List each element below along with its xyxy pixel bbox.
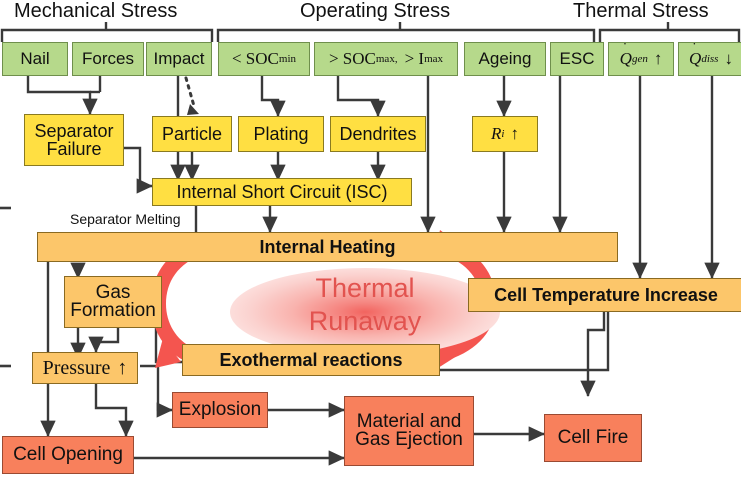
node-soc-max-i-max[interactable]: > SOCmax, > Imax [314, 42, 458, 76]
node-esc[interactable]: ESC [550, 42, 604, 76]
node-separator-failure[interactable]: Separator Failure [24, 114, 124, 166]
node-q-gen[interactable]: ˙ Qgen ↑ [608, 42, 674, 76]
node-impact[interactable]: Impact [146, 42, 212, 76]
thermal-runaway-line1: Thermal [230, 272, 500, 305]
label-separator-melting: Separator Melting [70, 212, 181, 227]
node-soc-max-sub: max, [376, 50, 398, 68]
q-diss-dot-accent: ˙ [692, 45, 697, 53]
q-diss-sub: diss [701, 50, 718, 68]
q-gen-arrow: ↑ [654, 50, 663, 68]
node-soc-min[interactable]: < SOCmin [218, 42, 310, 76]
q-gen-symbol: ˙ Q [620, 50, 632, 68]
ri-symbol: R [491, 125, 501, 143]
node-gas-formation[interactable]: Gas Formation [64, 276, 162, 328]
q-gen-sub: gen [632, 50, 648, 68]
node-q-diss[interactable]: ˙ Qdiss ↓ [678, 42, 741, 76]
pressure-label: Pressure [43, 359, 111, 377]
node-explosion[interactable]: Explosion [172, 392, 268, 428]
group-title-mechanical: Mechanical Stress [14, 0, 177, 22]
node-soc-min-label: < SOC [232, 50, 279, 68]
ri-arrow: ↑ [510, 125, 519, 143]
node-internal-short-circuit[interactable]: Internal Short Circuit (ISC) [152, 178, 412, 206]
group-title-operating: Operating Stress [300, 0, 450, 22]
node-soc-min-sub: min [279, 50, 296, 68]
thermal-runaway-label: Thermal Runaway [230, 272, 500, 338]
q-diss-arrow: ↓ [724, 50, 733, 68]
node-nail[interactable]: Nail [2, 42, 68, 76]
node-cell-temperature-increase[interactable]: Cell Temperature Increase [468, 278, 741, 312]
node-material-gas-ejection[interactable]: Material and Gas Ejection [344, 396, 474, 466]
node-soc-max-label: > SOC [329, 50, 376, 68]
node-pressure[interactable]: Pressure ↑ [32, 352, 138, 384]
node-i-max-label: > I [405, 50, 425, 68]
q-gen-dot-accent: ˙ [623, 45, 628, 53]
node-ri[interactable]: Ri ↑ [472, 116, 538, 152]
q-diss-symbol: ˙ Q [689, 50, 701, 68]
dotted-arrowhead [187, 104, 199, 115]
group-title-thermal: Thermal Stress [573, 0, 709, 22]
node-i-max-sub: max [424, 50, 443, 68]
node-forces[interactable]: Forces [72, 42, 144, 76]
node-exothermal-reactions[interactable]: Exothermal reactions [182, 344, 440, 376]
node-ageing[interactable]: Ageing [464, 42, 546, 76]
node-cell-opening[interactable]: Cell Opening [2, 436, 134, 474]
node-cell-fire[interactable]: Cell Fire [544, 414, 642, 462]
pressure-arrow: ↑ [117, 359, 127, 377]
node-internal-heating[interactable]: Internal Heating [37, 232, 618, 262]
ri-sub: i [501, 125, 504, 143]
node-plating[interactable]: Plating [238, 116, 324, 152]
node-dendrites[interactable]: Dendrites [330, 116, 426, 152]
diagram-canvas: Mechanical Stress Operating Stress Therm… [0, 0, 741, 486]
thermal-runaway-line2: Runaway [230, 305, 500, 338]
node-particle[interactable]: Particle [152, 116, 232, 152]
